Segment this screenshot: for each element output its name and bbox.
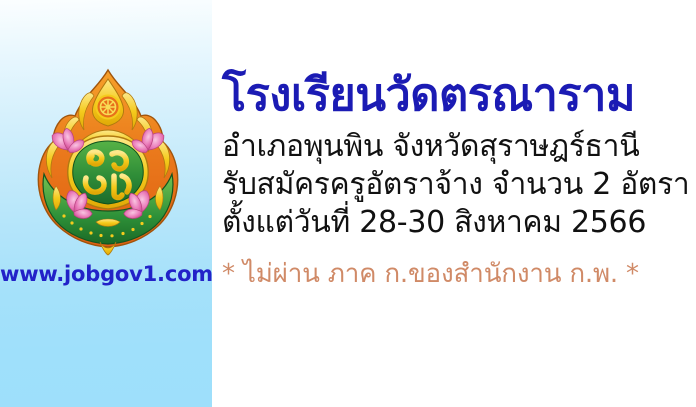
- district-province-line: อำเภอพุนพิน จังหวัดสุราษฎร์ธานี: [222, 131, 639, 163]
- position-vacancies-line: รับสมัครครูอัตราจ้าง จำนวน 2 อัตรา: [222, 169, 689, 201]
- website-url-label: www.jobgov1.com: [0, 262, 212, 286]
- application-dates-line: ตั้งแต่วันที่ 28-30 สิงหาคม 2566: [222, 207, 646, 239]
- exemption-note-line: * ไม่ผ่าน ภาค ก.ของสำนักงาน ก.พ. *: [222, 261, 639, 288]
- left-logo-panel: www.jobgov1.com: [0, 0, 212, 407]
- school-name-title: โรงเรียนวัดตรณาราม: [222, 72, 635, 118]
- job-announcement-banner: www.jobgov1.com โรงเรียนวัดตรณาราม อำเภอ…: [0, 0, 696, 407]
- obec-emblem-icon: [34, 66, 182, 256]
- announcement-text-block: โรงเรียนวัดตรณาราม อำเภอพุนพิน จังหวัดสุ…: [222, 0, 696, 407]
